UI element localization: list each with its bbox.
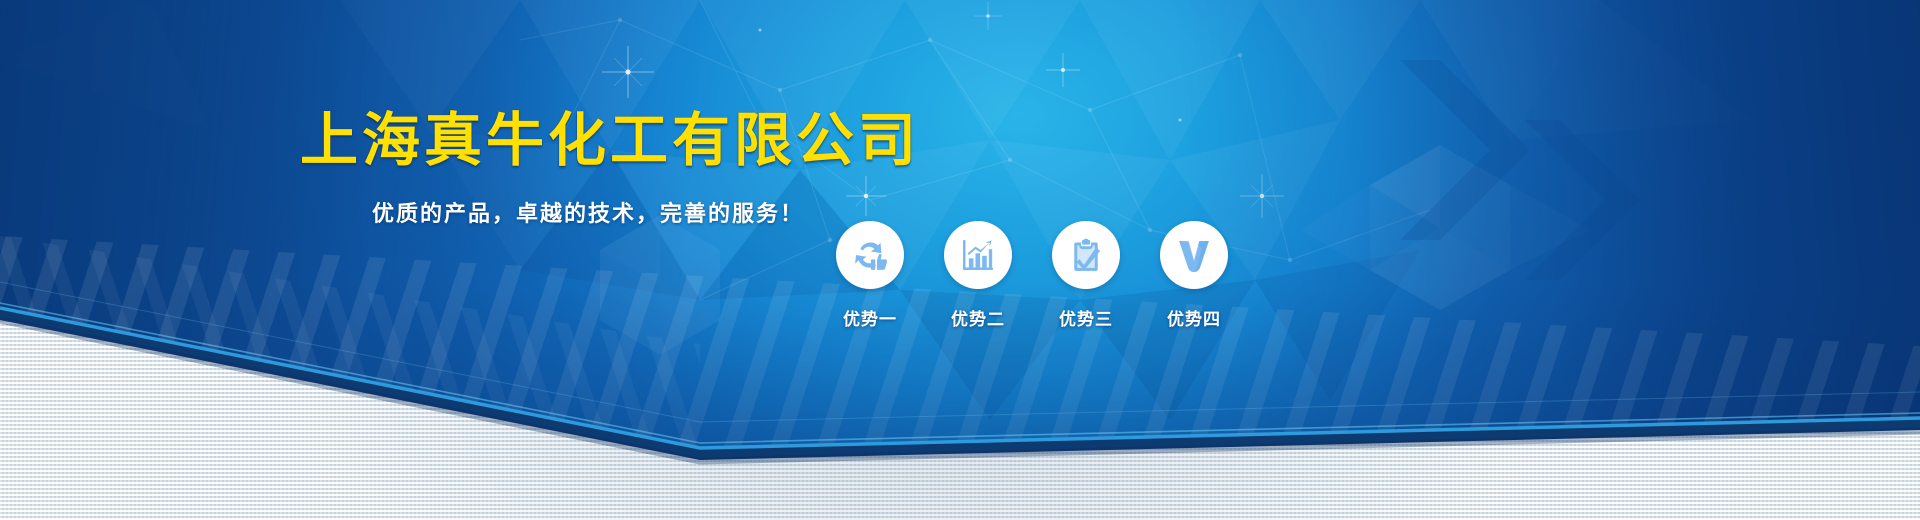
feature-item-3[interactable]: 优势三 [1052, 221, 1120, 330]
feature-label-1: 优势一 [843, 305, 897, 330]
banner-content: 上海真牛化工有限公司 优质的产品，卓越的技术，完善的服务！ 优势一 [0, 0, 1920, 520]
feature-icon-circle-1[interactable] [836, 221, 904, 289]
feature-icon-row: 优势一 [836, 221, 1228, 330]
feature-label-3: 优势三 [1059, 305, 1113, 330]
feature-item-4[interactable]: 优势四 [1160, 221, 1228, 330]
feature-label-4: 优势四 [1167, 305, 1221, 330]
feature-icon-circle-4[interactable] [1160, 221, 1228, 289]
feature-item-1[interactable]: 优势一 [836, 221, 904, 330]
bar-chart-growth-icon [958, 235, 998, 275]
v-shield-icon [1173, 234, 1215, 276]
feature-label-2: 优势二 [951, 305, 1005, 330]
feature-item-2[interactable]: 优势二 [944, 221, 1012, 330]
refresh-thumbs-up-icon [849, 234, 891, 276]
clipboard-check-icon [1066, 235, 1106, 275]
feature-icon-circle-2[interactable] [944, 221, 1012, 289]
company-hero-banner: 上海真牛化工有限公司 优质的产品，卓越的技术，完善的服务！ 优势一 [0, 0, 1920, 520]
company-title: 上海真牛化工有限公司 [300, 93, 920, 177]
company-slogan: 优质的产品，卓越的技术，完善的服务！ [372, 196, 804, 228]
feature-icon-circle-3[interactable] [1052, 221, 1120, 289]
